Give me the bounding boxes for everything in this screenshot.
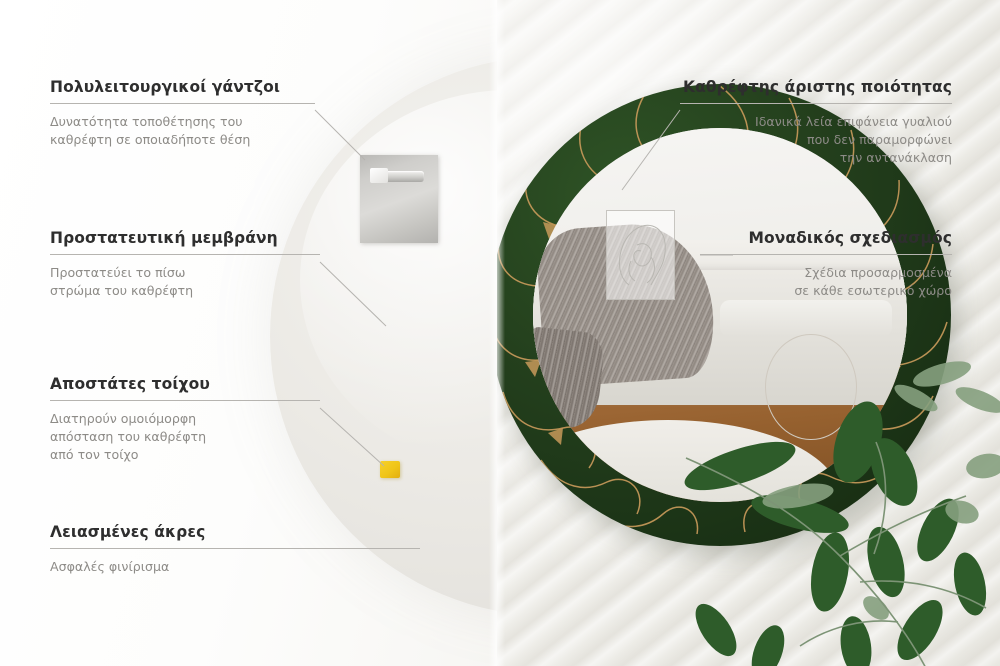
- hook-tab: [370, 168, 388, 183]
- callout-divider: [50, 103, 315, 104]
- callout-divider: [50, 400, 320, 401]
- callout-description: Σχέδια προσαρμοσμένα σε κάθε εσωτερικό χ…: [700, 264, 952, 300]
- product-infographic: Πολυλειτουργικοί γάντζοι Δυνατότητα τοπο…: [0, 0, 1000, 666]
- callout-description: Διατηρούν ομοιόμορφη απόσταση του καθρέφ…: [50, 410, 320, 464]
- callout-divider: [700, 254, 952, 255]
- line-art-face-poster: [606, 210, 675, 300]
- wall-spacer-chip: [380, 461, 400, 478]
- callout-description: Ασφαλές φινίρισμα: [50, 558, 420, 576]
- callout-divider: [680, 103, 952, 104]
- callout-title: Μοναδικός σχεδιασμός: [700, 229, 952, 247]
- callout-description: Δυνατότητα τοποθέτησης του καθρέφτη σε ο…: [50, 113, 315, 149]
- callout-description: Προστατεύει το πίσω στρώμα του καθρέφτη: [50, 264, 320, 300]
- callout-unique-design: Μοναδικός σχεδιασμός Σχέδια προσαρμοσμέν…: [700, 229, 952, 300]
- callout-top-quality-mirror: Καθρέφτης άριστης ποιότητας Ιδανικά λεία…: [680, 78, 952, 167]
- callout-wall-spacers: Αποστάτες τοίχου Διατηρούν ομοιόμορφη απ…: [50, 375, 320, 464]
- callout-title: Λειασμένες άκρες: [50, 523, 420, 541]
- callout-title: Καθρέφτης άριστης ποιότητας: [680, 78, 952, 96]
- line-art-face-icon: [607, 211, 674, 299]
- callout-smoothed-edges: Λειασμένες άκρες Ασφαλές φινίρισμα: [50, 523, 420, 576]
- callout-description: Ιδανικά λεία επιφάνεια γυαλιού που δεν π…: [680, 113, 952, 167]
- callout-divider: [50, 548, 420, 549]
- reflected-sofa-cushion: [720, 300, 892, 337]
- green-leaves-decoration-icon: [680, 346, 1000, 666]
- callout-multifunctional-hooks: Πολυλειτουργικοί γάντζοι Δυνατότητα τοπο…: [50, 78, 315, 149]
- callout-divider: [50, 254, 320, 255]
- callout-title: Αποστάτες τοίχου: [50, 375, 320, 393]
- mounting-hook-plate: [360, 155, 438, 243]
- callout-protective-membrane: Προστατευτική μεμβράνη Προστατεύει το πί…: [50, 229, 320, 300]
- callout-title: Πολυλειτουργικοί γάντζοι: [50, 78, 315, 96]
- callout-title: Προστατευτική μεμβράνη: [50, 229, 320, 247]
